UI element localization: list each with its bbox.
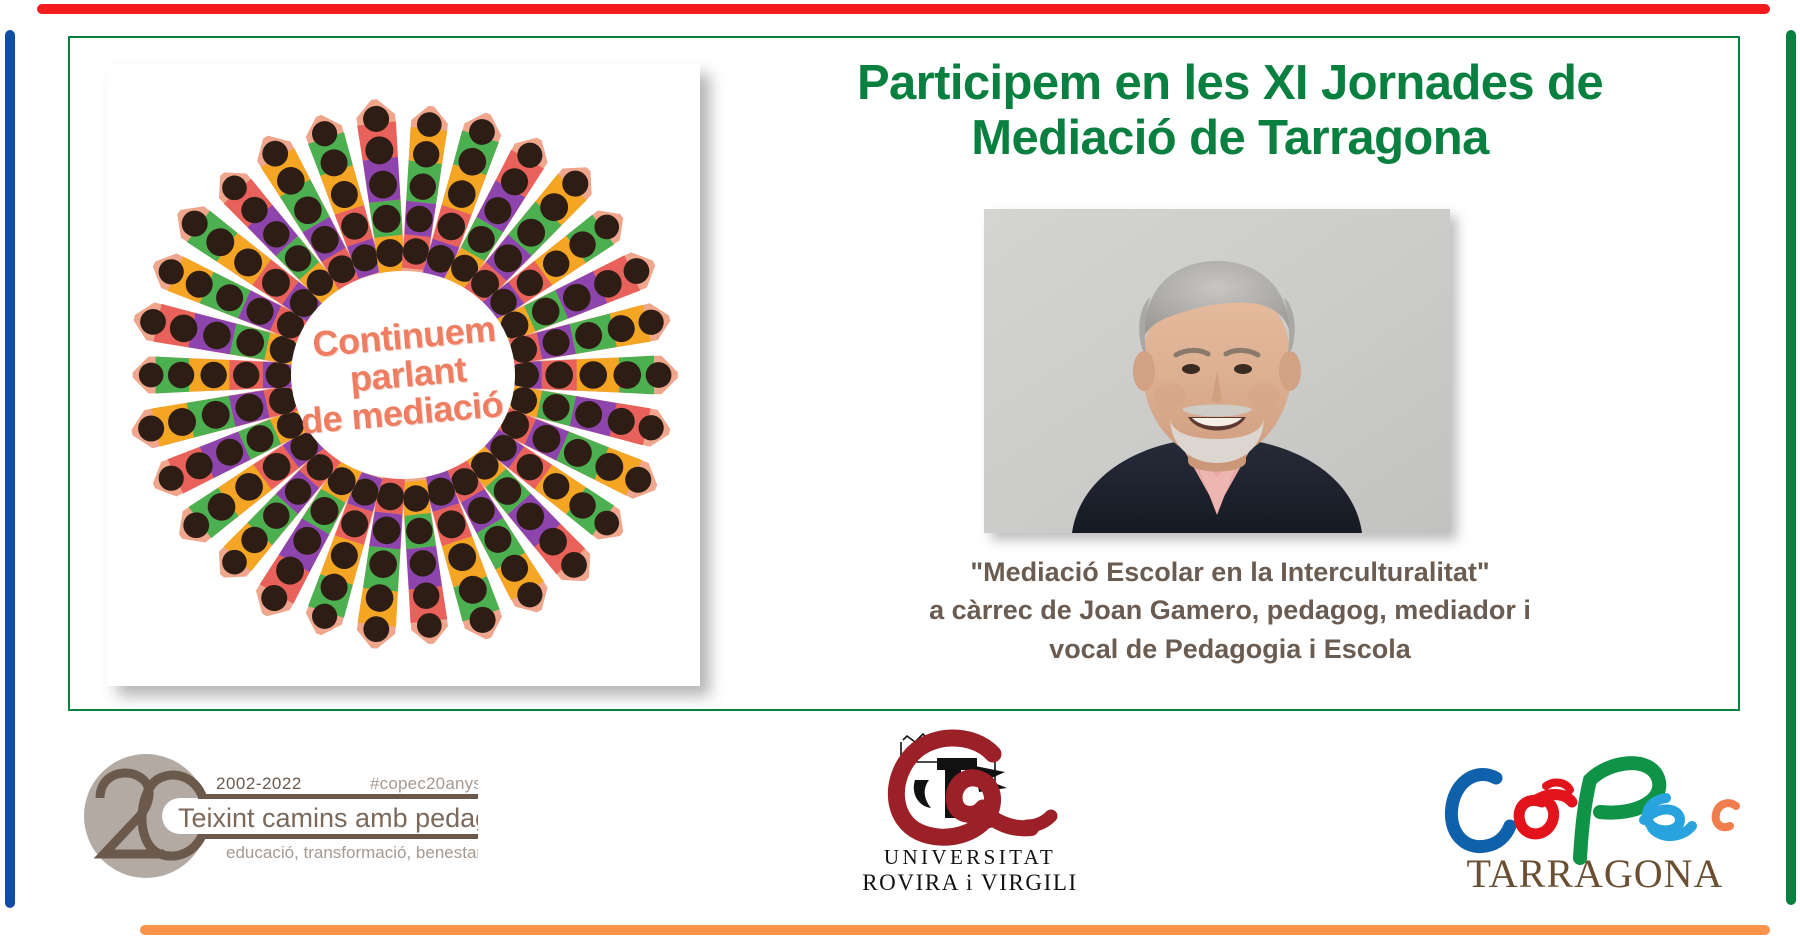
- sunburst-icon: [107, 64, 700, 686]
- page-title: Participem en les XI Jornades de Mediaci…: [730, 56, 1730, 166]
- session-caption-line3: vocal de Pedagogia i Escola: [790, 630, 1670, 668]
- speaker-photo: [984, 209, 1450, 533]
- logo-copec-tarragona: TARRAGONA: [1430, 742, 1760, 897]
- copec20-hashtag: #copec20anys: [370, 774, 478, 793]
- copec20-subtagline: educació, transformació, benestar: [226, 843, 478, 862]
- decor-bar-bottom-orange: [140, 925, 1770, 935]
- decor-bar-right-green: [1786, 30, 1796, 905]
- poster-sunburst-graphic: [107, 64, 700, 686]
- copec20-years: 2002-2022: [216, 774, 302, 793]
- copec20anys-logo-icon: 2002-2022 #copec20anys Teixint camins am…: [78, 748, 478, 883]
- speaker-portrait-icon: [984, 209, 1450, 533]
- page-title-line1: Participem en les XI Jornades de: [730, 56, 1730, 111]
- session-caption-line1: "Mediació Escolar en la Interculturalita…: [790, 553, 1670, 591]
- poster-canvas-root: Continuem parlant de mediació Participem…: [0, 0, 1800, 940]
- decor-bar-left-blue: [5, 30, 15, 908]
- copec-tarragona-city: TARRAGONA: [1467, 851, 1724, 896]
- poster-image-card: Continuem parlant de mediació: [107, 64, 700, 686]
- session-caption: "Mediació Escolar en la Interculturalita…: [790, 553, 1670, 668]
- copec-tarragona-logo-icon: TARRAGONA: [1430, 742, 1760, 897]
- urv-at-brushstroke-icon: UNIVERSITAT ROVIRA i VIRGILI: [845, 722, 1095, 897]
- copec20-tagline: Teixint camins amb pedagogia: [178, 803, 478, 833]
- logo-copec-20-anys: 2002-2022 #copec20anys Teixint camins am…: [78, 748, 478, 883]
- urv-line1: UNIVERSITAT: [884, 845, 1056, 869]
- urv-line2: ROVIRA i VIRGILI: [862, 870, 1078, 895]
- decor-bar-top-red: [37, 4, 1770, 14]
- page-title-line2: Mediació de Tarragona: [730, 111, 1730, 166]
- logo-urv: UNIVERSITAT ROVIRA i VIRGILI: [845, 722, 1095, 897]
- session-caption-line2: a càrrec de Joan Gamero, pedagog, mediad…: [790, 591, 1670, 629]
